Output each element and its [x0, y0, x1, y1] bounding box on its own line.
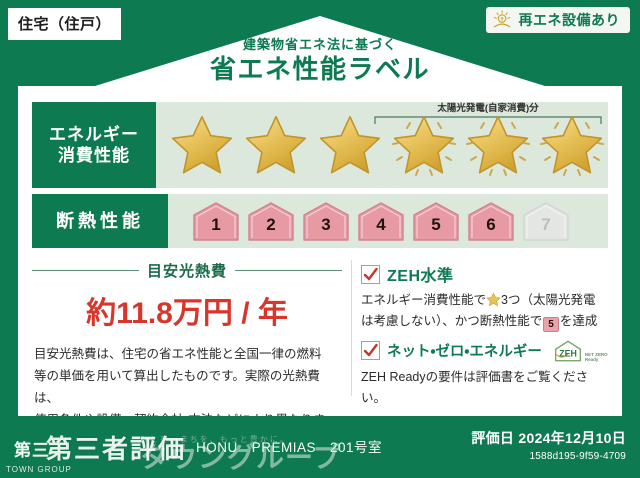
insulation-level-chip: 7 — [520, 200, 572, 242]
insulation-level-chip: 1 — [190, 200, 242, 242]
net-zero-checkbox[interactable] — [361, 341, 380, 360]
insulation-value: 1 2 3 4 5 6 7 — [168, 194, 608, 248]
heading-rule-right — [235, 270, 342, 271]
label-content: エネルギー 消費性能 太陽光発電(自家消費)分 — [18, 96, 622, 416]
insulation-level-number: 7 — [541, 215, 550, 242]
insulation-performance-row: 断熱性能 1 2 3 4 5 6 — [32, 194, 608, 248]
zeh-desc-pre: エネルギー消費性能で — [361, 293, 486, 307]
energy-performance-key: エネルギー 消費性能 — [32, 102, 156, 188]
insulation-level-number: 2 — [266, 215, 275, 242]
utility-cost-heading-text: 目安光熱費 — [147, 260, 227, 281]
zeh-standard-head: ZEH水準 — [361, 262, 608, 286]
label-title: 建築物省エネ法に基づく 省エネ性能ラベル — [0, 38, 640, 84]
zeh-logo-subtext: NET ZERO Ready — [585, 352, 608, 362]
zeh-house-icon: ZEH — [553, 339, 583, 363]
insulation-key: 断熱性能 — [32, 194, 168, 248]
check-icon — [363, 343, 378, 358]
zeh-standard-checkbox[interactable] — [361, 265, 380, 284]
heading-rule-left — [32, 270, 139, 271]
insulation-level-chip: 6 — [465, 200, 517, 242]
cost-note-line: 等の単価を用いて算出したものです。実際の光熱費は、 — [34, 366, 340, 410]
star-icon — [539, 113, 605, 177]
insulation-level-chip: 4 — [355, 200, 407, 242]
net-zero-energy-block: ネット・ゼロ・エネルギー ZEH NET ZERO Ready — [361, 339, 608, 410]
title-main: 省エネ性能ラベル — [0, 55, 640, 84]
housing-type-tag: 住宅（住戸） — [8, 8, 121, 40]
net-zero-desc: ZEH Readyの要件は評価書をご覧ください。 — [361, 367, 608, 410]
star-icon — [243, 113, 309, 177]
net-zero-title: ネット・ゼロ・エネルギー — [387, 340, 542, 361]
cost-note-line: 目安光熱費は、住宅の省エネ性能と全国一律の燃料 — [34, 344, 340, 366]
zeh-desc-l2-post: を達成 — [560, 314, 598, 328]
zeh-logo: ZEH NET ZERO Ready — [553, 339, 608, 363]
utility-cost-value: 約11.8万円 / 年 — [32, 288, 342, 332]
renewable-equipment-badge: 再エネ設備あり — [486, 7, 631, 33]
zeh-standard-block: ZEH水準 エネルギー消費性能で3つ（太陽光発電 は考慮しない）、かつ断熱性能で… — [361, 262, 608, 333]
zeh-standard-title: ZEH水準 — [387, 262, 454, 286]
net-zero-head: ネット・ゼロ・エネルギー ZEH NET ZERO Ready — [361, 339, 608, 363]
footer-evaluation-info: 評価日 2024年12月10日 1588d195-9f59-4709 — [471, 428, 626, 462]
insulation-level-chip: 5 — [410, 200, 462, 242]
energy-star-rating — [156, 110, 608, 180]
star-icon — [391, 113, 457, 177]
utility-cost-heading: 目安光熱費 — [32, 260, 342, 281]
evaluation-date: 評価日 2024年12月10日 — [471, 428, 626, 448]
watermark-group-name: TOWN GROUP — [6, 465, 72, 474]
energy-key-line1: エネルギー — [49, 124, 139, 145]
star-icon — [317, 113, 383, 177]
energy-star — [462, 110, 534, 180]
energy-key-line2: 消費性能 — [58, 145, 130, 166]
document-id: 1588d195-9f59-4709 — [471, 451, 626, 462]
energy-star — [388, 110, 460, 180]
energy-star — [240, 110, 312, 180]
energy-star — [314, 110, 386, 180]
insulation-level-number: 1 — [211, 215, 220, 242]
insulation-level-number: 5 — [431, 215, 440, 242]
energy-performance-row: エネルギー 消費性能 太陽光発電(自家消費)分 — [32, 102, 608, 188]
energy-star — [166, 110, 238, 180]
title-subtitle: 建築物省エネ法に基づく — [0, 38, 640, 52]
insulation-level-chip: 3 — [300, 200, 352, 242]
renewable-badge-label: 再エネ設備あり — [519, 10, 621, 30]
svg-text:ZEH: ZEH — [559, 348, 577, 358]
insulation-level-number: 3 — [321, 215, 330, 242]
watermark-third-party-stamp: 第三者評価 — [46, 429, 186, 466]
lower-section: 目安光熱費 約11.8万円 / 年 目安光熱費は、住宅の省エネ性能と全国一律の燃… — [32, 256, 608, 406]
insulation-level-chips: 1 2 3 4 5 6 7 — [168, 200, 572, 242]
zeh-standard-desc: エネルギー消費性能で3つ（太陽光発電 は考慮しない）、かつ断熱性能で5を達成 — [361, 290, 608, 333]
insulation-level-number: 6 — [486, 215, 495, 242]
insulation-level-inline-chip: 5 — [543, 317, 559, 332]
zeh-logo-sub2: Ready — [585, 357, 599, 362]
energy-performance-value: 太陽光発電(自家消費)分 — [156, 102, 608, 188]
utility-cost-panel: 目安光熱費 約11.8万円 / 年 目安光熱費は、住宅の省エネ性能と全国一律の燃… — [32, 256, 342, 406]
star-icon — [169, 113, 235, 177]
zeh-desc-l2-pre: は考慮しない）、かつ断熱性能で — [361, 314, 542, 328]
label-root: 住宅（住戸） 再エネ設備あり 建築物省エネ法に基づく 省エネ性能ラベル — [0, 0, 640, 478]
zeh-desc-mid: 3つ（太陽光発電 — [501, 293, 595, 307]
check-icon — [363, 267, 378, 282]
energy-star — [536, 110, 608, 180]
star-icon — [465, 113, 531, 177]
zeh-panel: ZEH水準 エネルギー消費性能で3つ（太陽光発電 は考慮しない）、かつ断熱性能で… — [361, 256, 608, 406]
inline-star-icon — [486, 292, 501, 307]
panel-divider — [351, 260, 352, 396]
sun-icon — [492, 10, 514, 30]
insulation-level-number: 4 — [376, 215, 385, 242]
insulation-level-chip: 2 — [245, 200, 297, 242]
